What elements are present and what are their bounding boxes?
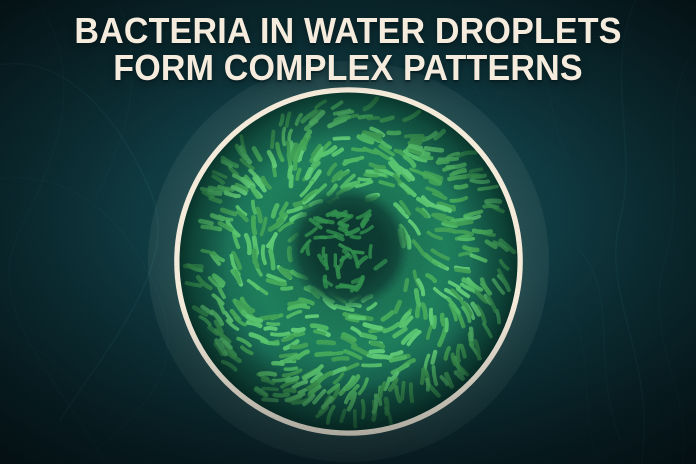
droplet-illustration	[174, 87, 523, 436]
water-droplet	[174, 87, 523, 436]
title-line-1: BACTERIA IN WATER DROPLETS	[19, 12, 677, 49]
droplet-inner-vignette	[180, 93, 518, 431]
poster-canvas: BACTERIA IN WATER DROPLETS FORM COMPLEX …	[0, 0, 696, 464]
title-line-2: FORM COMPLEX PATTERNS	[19, 49, 677, 86]
poster-title: BACTERIA IN WATER DROPLETS FORM COMPLEX …	[0, 12, 696, 86]
